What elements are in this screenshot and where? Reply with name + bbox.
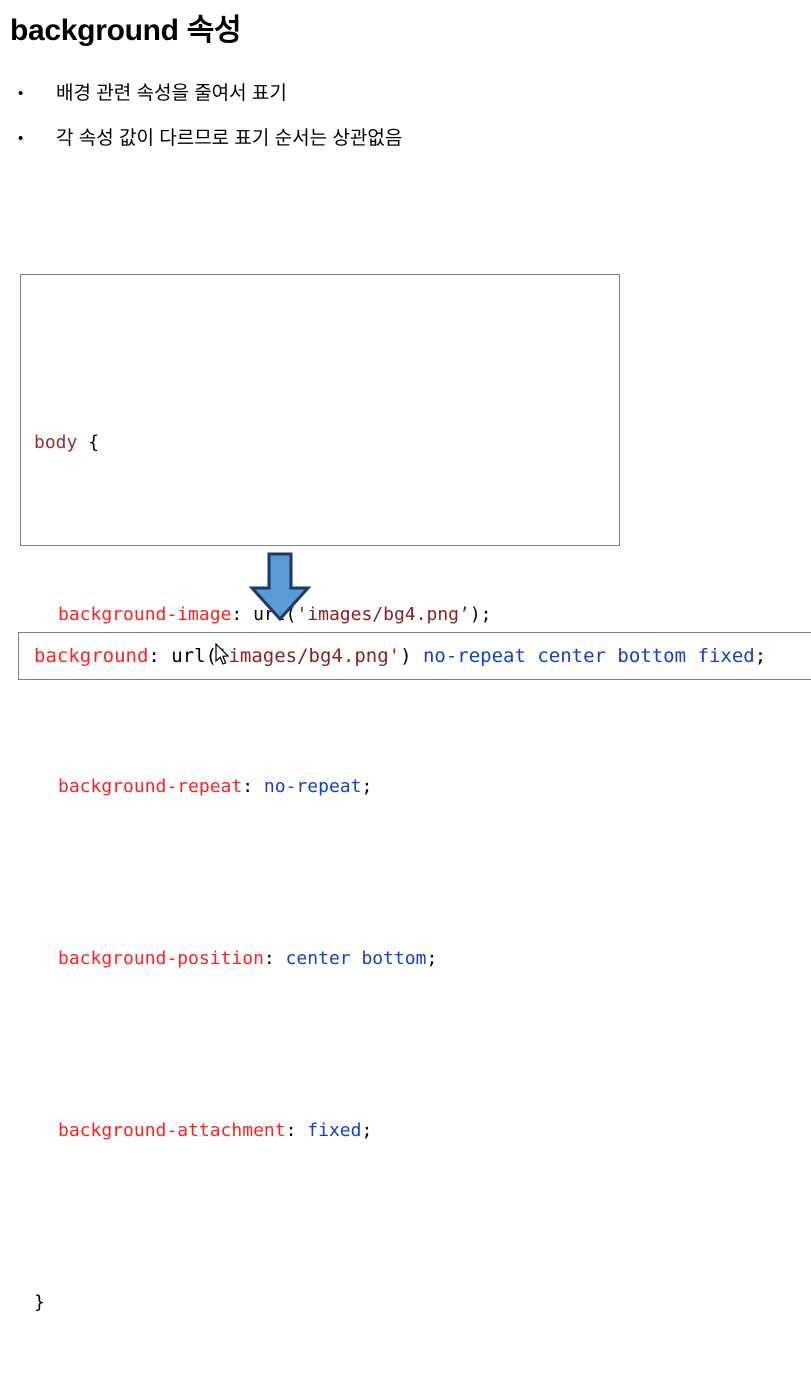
close-brace: }	[34, 1292, 45, 1313]
css-property: background	[34, 645, 148, 667]
css-value: no-repeat center bottom fixed	[423, 645, 755, 667]
url-function-open: url(	[171, 645, 217, 667]
bullet-list: • 배경 관련 속성을 줄여서 표기 • 각 속성 값이 다르므로 표기 순서는…	[10, 82, 790, 172]
css-string: 'images/bg4.png’	[296, 604, 469, 625]
semicolon: ;	[426, 948, 437, 969]
css-property: background-repeat	[58, 776, 242, 797]
semicolon: ;	[755, 645, 766, 667]
css-property: background-position	[58, 948, 264, 969]
url-function-close: )	[400, 645, 423, 667]
code-block-longhand: body { background-image: url('images/bg4…	[20, 274, 620, 546]
open-brace: {	[77, 432, 99, 453]
list-item: • 배경 관련 속성을 줄여서 표기	[10, 82, 790, 127]
arrow-down-icon	[248, 552, 312, 622]
bullet-text: 각 속성 값이 다르므로 표기 순서는 상관없음	[56, 127, 402, 151]
code-block-shorthand: background: url('images/bg4.png') no-rep…	[18, 632, 811, 680]
css-property: background-image	[58, 604, 231, 625]
code-content: body { background-image: url('images/bg4…	[34, 292, 492, 1388]
code-line-selector: body {	[34, 421, 492, 464]
semicolon: ;	[481, 604, 492, 625]
css-selector: body	[34, 432, 77, 453]
code-line-declaration: background: url('images/bg4.png') no-rep…	[34, 642, 766, 670]
bullet-marker-icon: •	[10, 82, 56, 106]
list-item: • 각 속성 값이 다르므로 표기 순서는 상관없음	[10, 127, 790, 172]
semicolon: ;	[361, 776, 372, 797]
css-property: background-attachment	[58, 1120, 286, 1141]
page-title: background 속성	[10, 5, 241, 49]
css-string: 'images/bg4.png'	[217, 645, 400, 667]
bullet-marker-icon: •	[10, 127, 56, 151]
colon: :	[148, 645, 171, 667]
colon: :	[242, 776, 264, 797]
css-value: fixed	[307, 1120, 361, 1141]
code-line-declaration: background-repeat: no-repeat;	[34, 765, 492, 808]
colon: :	[286, 1120, 308, 1141]
url-function-close: )	[470, 604, 481, 625]
css-value: no-repeat	[264, 776, 362, 797]
bullet-text: 배경 관련 속성을 줄여서 표기	[56, 82, 287, 106]
semicolon: ;	[361, 1120, 372, 1141]
css-value: center bottom	[286, 948, 427, 969]
colon: :	[264, 948, 286, 969]
code-line-close-brace: }	[34, 1281, 492, 1324]
code-line-declaration: background-attachment: fixed;	[34, 1109, 492, 1152]
code-line-declaration: background-position: center bottom;	[34, 937, 492, 980]
